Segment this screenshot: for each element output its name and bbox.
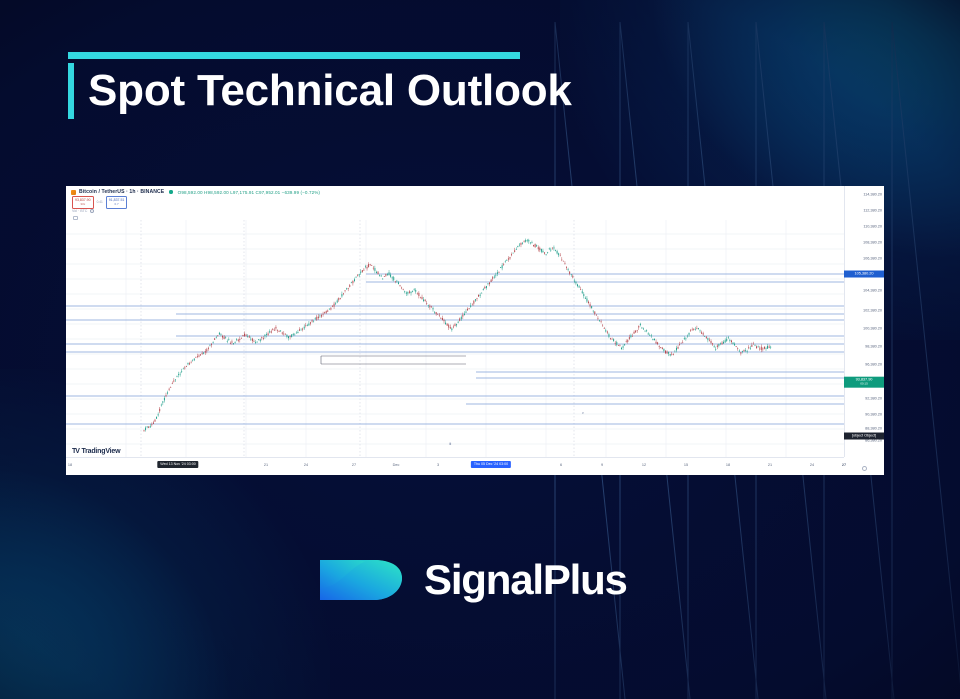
last-price-badge[interactable]: 93,837.90 33x <box>72 196 94 209</box>
price-tick: 96,380.20 <box>865 362 882 367</box>
time-tick: 24 <box>304 463 308 467</box>
time-tick: 3 <box>437 463 439 467</box>
axis-settings-icon[interactable] <box>862 466 867 471</box>
price-tick: 112,380.20 <box>863 208 882 213</box>
price-tick: 108,380.20 <box>863 240 882 245</box>
ohlc-values: O98,592.00 H98,592.00 L97,175.91 C97,952… <box>178 190 320 195</box>
price-tick: 100,380.20 <box>863 326 882 331</box>
gear-icon[interactable] <box>90 209 94 213</box>
tradingview-logo: TV TradingView <box>72 448 120 455</box>
time-badge-selected[interactable]: Thu 05 Dec '24 03:00 <box>471 461 511 468</box>
title-accent-bar-left <box>68 63 74 119</box>
time-tick: Dec <box>393 463 400 467</box>
wave-label-v: v <box>582 411 584 415</box>
time-tick: 9 <box>601 463 603 467</box>
title-accent-bar-top <box>68 52 520 59</box>
time-tick: 21 <box>264 463 268 467</box>
bitcoin-icon <box>71 190 76 195</box>
price-tick: 90,380.20 <box>865 412 882 417</box>
mid-value-label: 0.41 <box>97 200 103 204</box>
price-badge-blue[interactable]: 105,380.20 <box>844 271 884 278</box>
symbol-label[interactable]: Bitcoin / TetherUS · 1h · BINANCE <box>79 189 164 195</box>
indicator-row[interactable]: Vol · BTC <box>72 209 94 213</box>
price-axis[interactable]: 114,380.20 112,380.20 110,380.20 108,380… <box>844 186 884 457</box>
time-tick: 24 <box>810 463 814 467</box>
time-tick: 18 <box>726 463 730 467</box>
price-badge-group: 93,837.90 33x 0.41 91,837.51 0.7 <box>72 196 127 209</box>
price-tick: 104,380.20 <box>863 288 882 293</box>
price-tick: 110,380.20 <box>863 224 882 229</box>
tradingview-mark-icon: TV <box>72 448 79 455</box>
price-badge-current[interactable]: 93,837.90 00:15 <box>844 377 884 388</box>
visibility-icon[interactable] <box>73 216 78 220</box>
page-title: Spot Technical Outlook <box>88 63 580 119</box>
indicator-label: Vol · BTC <box>72 209 87 213</box>
symbol-line[interactable]: Bitcoin / TetherUS · 1h · BINANCE O98,59… <box>71 189 320 195</box>
price-tick: 88,380.20 <box>865 426 882 431</box>
tradingview-wordmark: TradingView <box>81 448 120 455</box>
wave-label-iii: iii <box>449 442 451 446</box>
time-badge-crosshair: Wed 13 Nov '24 03:00 <box>157 461 198 468</box>
price-tick: 102,380.20 <box>863 308 882 313</box>
price-tick: 98,380.20 <box>865 344 882 349</box>
time-tick: 21 <box>768 463 772 467</box>
status-dot-icon <box>169 190 172 193</box>
tradingview-chart-panel[interactable]: Bitcoin / TetherUS · 1h · BINANCE O98,59… <box>66 186 884 475</box>
time-tick: 27 <box>352 463 356 467</box>
time-tick: 12 <box>642 463 646 467</box>
entry-price-badge[interactable]: 91,837.51 0.7 <box>106 196 128 209</box>
brand-name: SignalPlus <box>424 556 627 604</box>
chart-header: Bitcoin / TetherUS · 1h · BINANCE O98,59… <box>66 186 884 220</box>
time-tick-year: 27 <box>842 463 846 467</box>
price-tick: 114,380.20 <box>863 192 882 197</box>
time-tick: 15 <box>684 463 688 467</box>
time-axis[interactable]: Wed 13 Nov '24 03:00 18 21 24 27 Dec 3 T… <box>66 457 844 475</box>
page-title-block: Spot Technical Outlook <box>68 52 580 119</box>
price-tick: 92,380.20 <box>865 396 882 401</box>
price-badge-dark[interactable]: [object Object] <box>844 433 884 440</box>
time-tick: 18 <box>68 463 72 467</box>
brand-lockup: SignalPlus <box>316 548 627 612</box>
time-tick: 6 <box>560 463 562 467</box>
signalplus-wave-logo <box>316 548 406 612</box>
chart-plot-area[interactable] <box>66 186 884 475</box>
price-tick: 106,380.20 <box>863 256 882 261</box>
